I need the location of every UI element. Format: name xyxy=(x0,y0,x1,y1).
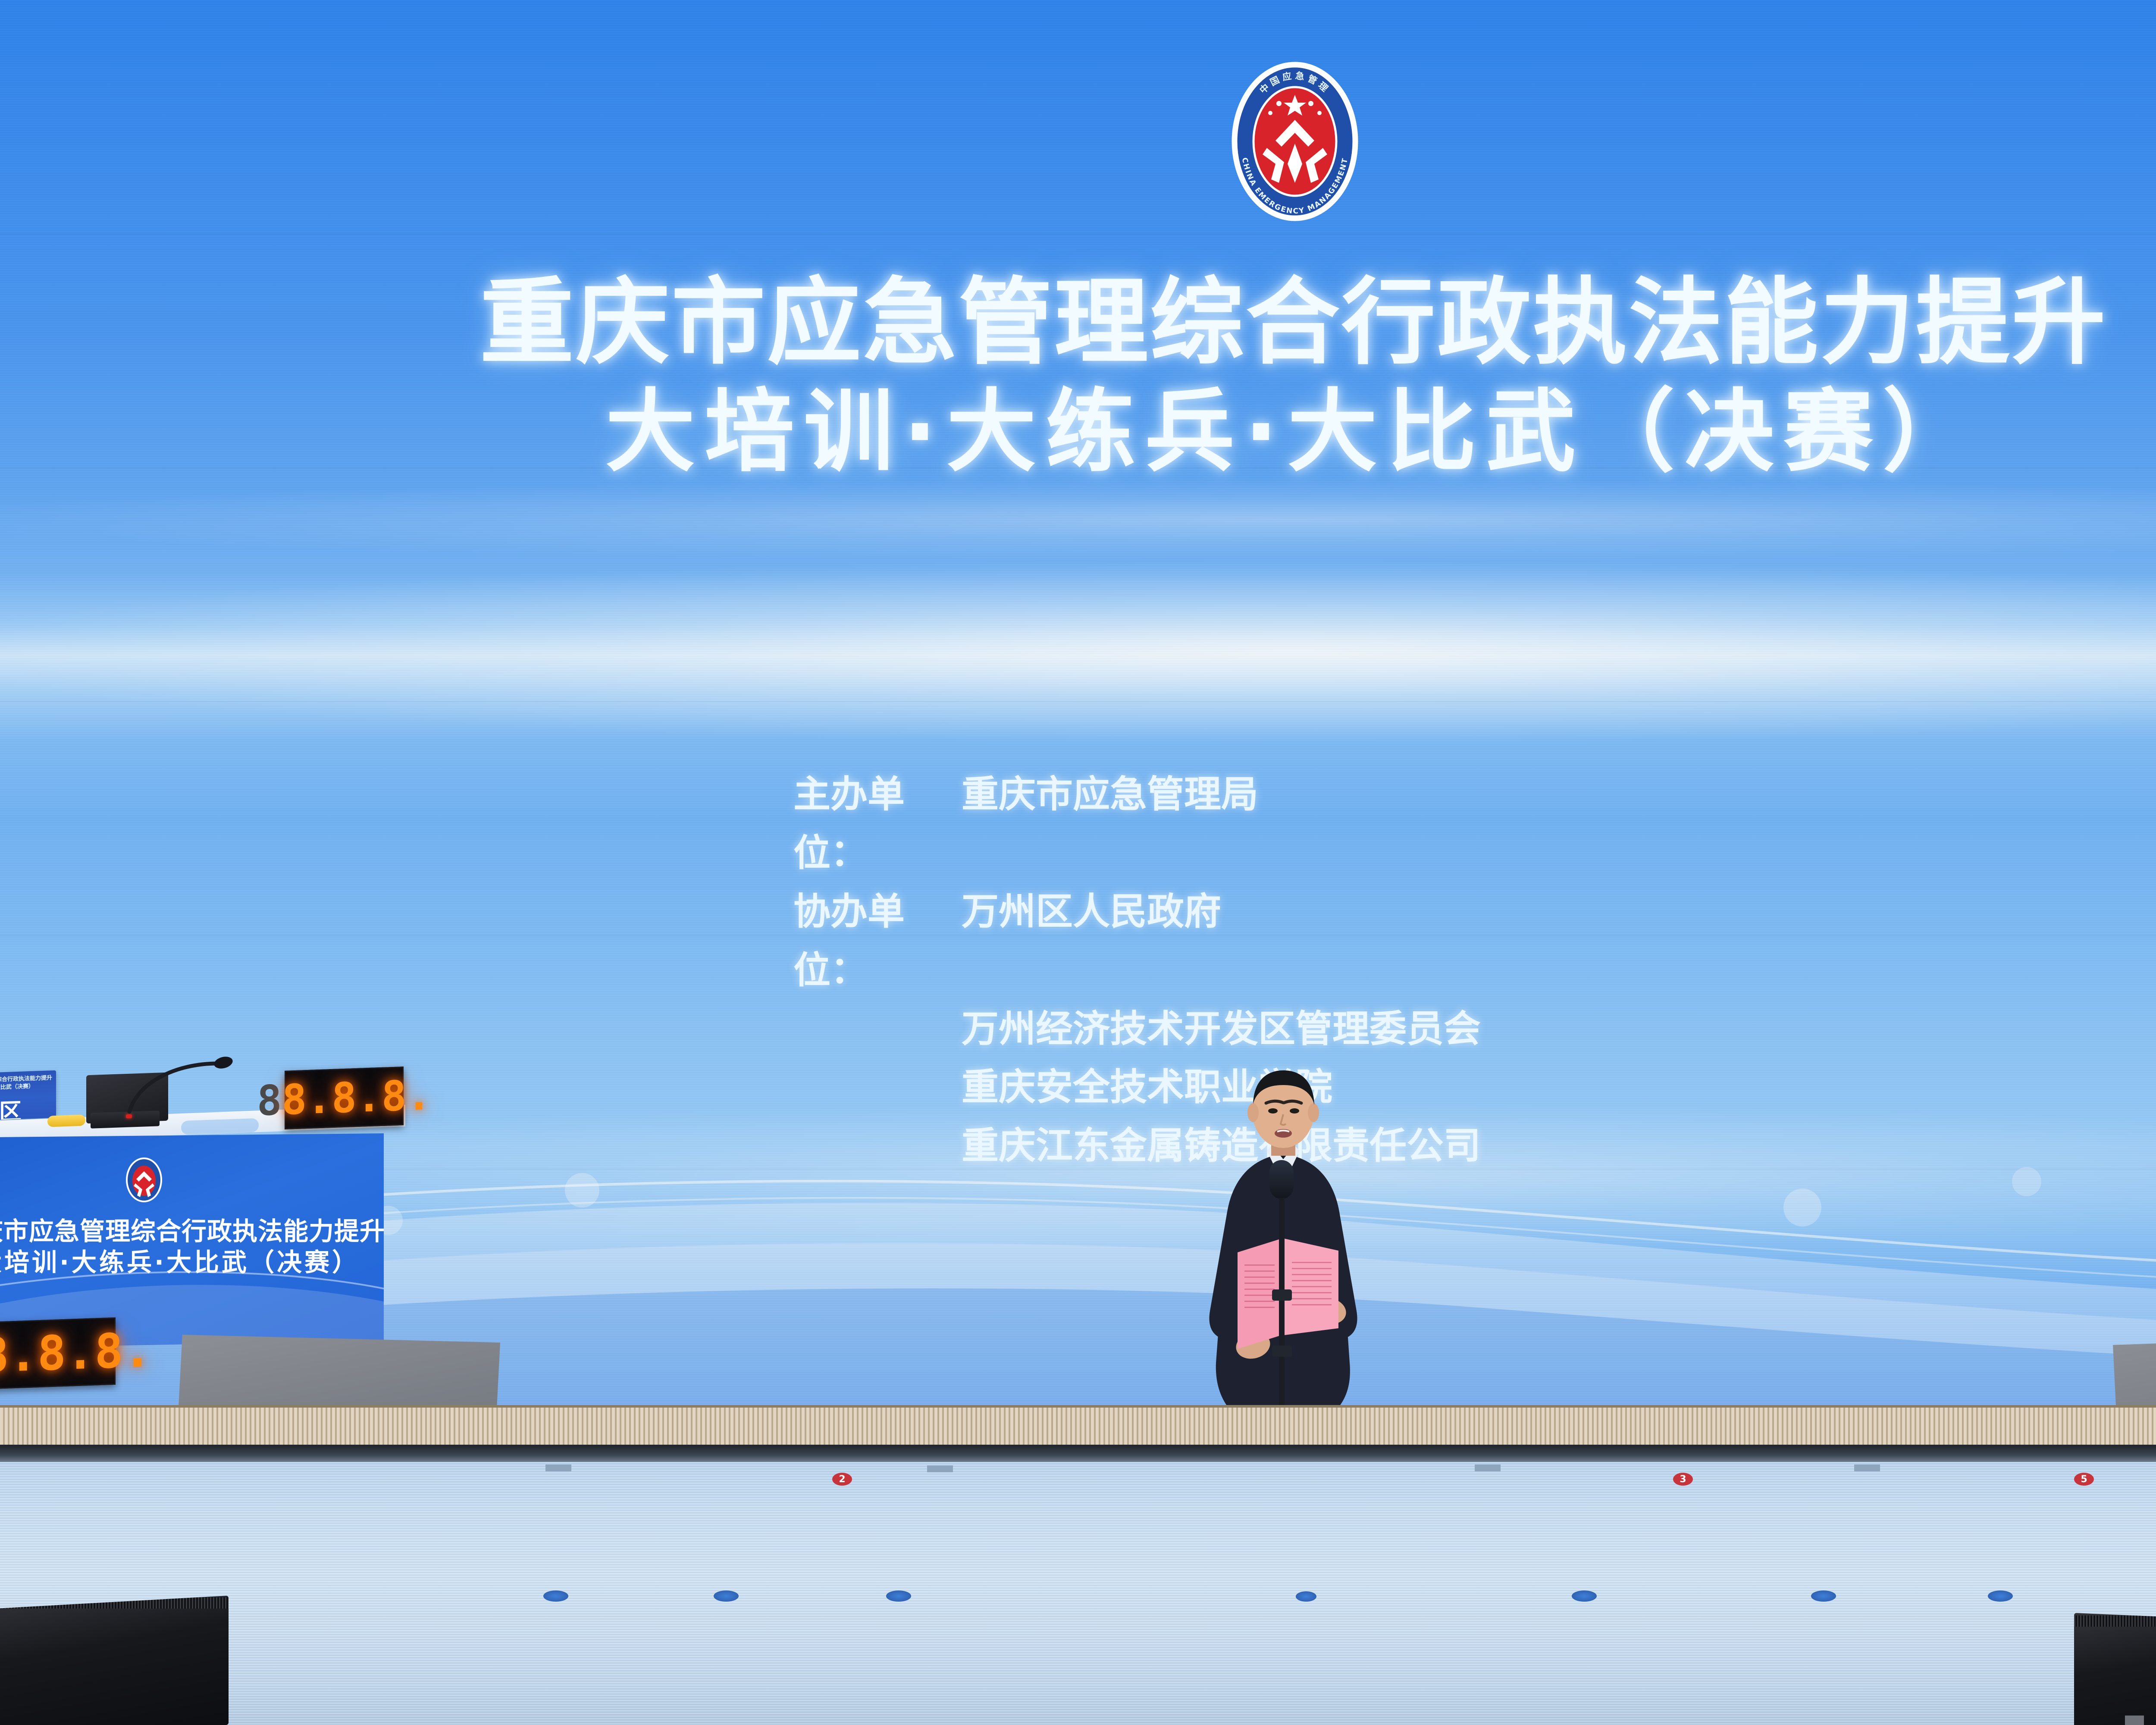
event-title-line2: 大培训·大练兵·大比武（决赛） xyxy=(0,387,2156,477)
stage-monitor-left xyxy=(0,1596,229,1725)
event-stage-photo: 中国应急管理 CHINA EMERGENCY MANAGEMENT 重庆市应急管… xyxy=(0,0,2156,1725)
event-title-line1: 重庆市应急管理综合行政执法能力提升 xyxy=(0,276,2156,370)
floor-light-reflection-2 xyxy=(714,1590,739,1602)
floor-light-reflection-5 xyxy=(1572,1590,1597,1602)
podium-left-gooseneck-mic xyxy=(125,1056,237,1116)
podium-left-emblem-icon xyxy=(124,1156,164,1204)
floor-cable-plate-3 xyxy=(1475,1465,1501,1471)
floor-cable-plate-2 xyxy=(927,1465,953,1472)
podium-left-yellow-object xyxy=(47,1114,85,1127)
floor-light-reflection-3 xyxy=(886,1590,911,1602)
stage-floor: 2 3 5 xyxy=(0,1462,2156,1725)
cohost-row: 协办单位： 万州区人民政府 xyxy=(793,883,1915,1000)
stage-front-wood-slat-band xyxy=(0,1405,2156,1447)
stage-monitor-right-logo-icon xyxy=(2125,1716,2144,1725)
score-display-left-bottom-value: 8.8.8. xyxy=(0,1322,152,1383)
backdrop-light-streak-main xyxy=(0,561,2156,742)
microphone-clamp xyxy=(1272,1289,1292,1301)
floor-light-reflection-6 xyxy=(1811,1590,1836,1602)
event-title-block: 重庆市应急管理综合行政执法能力提升 大培训·大练兵·大比武（决赛） xyxy=(0,276,2156,477)
nameplate-banan-top-line2: 大培训·大练兵·大比武（决赛） xyxy=(0,1083,34,1093)
score-display-left-top: 8 8.8.8. xyxy=(285,1066,404,1129)
cohost-label: 协办单位： xyxy=(793,883,962,1000)
floor-cable-plate-1 xyxy=(545,1465,571,1471)
floor-marker-3: 3 xyxy=(1673,1473,1693,1486)
floor-light-reflection-1 xyxy=(543,1590,568,1602)
podium-left-front-panel: 重庆市应急管理综合行政执法能力提升 大培训·大练兵·大比武（决赛） xyxy=(0,1133,384,1349)
score-display-left-top-value: 8.8.8. xyxy=(282,1071,432,1124)
host-label: 主办单位： xyxy=(793,765,962,883)
floor-light-reflection-4 xyxy=(1296,1591,1316,1602)
host-value: 重庆市应急管理局 xyxy=(962,765,1915,883)
stage-monitor-right xyxy=(2074,1613,2156,1725)
microphone-head-icon xyxy=(1269,1160,1294,1199)
floor-cable-plate-4 xyxy=(1854,1465,1880,1471)
china-emergency-management-emblem-icon: 中国应急管理 CHINA EMERGENCY MANAGEMENT xyxy=(1224,55,1366,223)
score-display-left-bottom: 8 8.8.8. xyxy=(0,1317,116,1389)
microphone-clamp-lower xyxy=(1272,1345,1292,1357)
floor-marker-5: 5 xyxy=(2074,1473,2094,1486)
podium-left-banner-line2: 大培训·大练兵·大比武（决赛） xyxy=(0,1242,384,1278)
floor-light-reflection-7 xyxy=(1988,1590,2013,1602)
backdrop-light-streak-upper xyxy=(0,479,2156,561)
nameplate-banan: 重庆市应急管理综合行政执法能力提升 大培训·大练兵·大比武（决赛） 巴南区 xyxy=(0,1070,56,1121)
host-row: 主办单位： 重庆市应急管理局 xyxy=(793,765,1915,883)
floor-marker-2: 2 xyxy=(832,1473,852,1486)
nameplate-banan-region: 巴南区 xyxy=(0,1093,22,1122)
cohost-value-0: 万州区人民政府 xyxy=(962,883,1915,1000)
stage-front-shadow-strip xyxy=(0,1445,2156,1462)
podium-left-desk-decal xyxy=(181,1118,259,1135)
cohost-value-1: 万州经济技术开发区管理委员会 xyxy=(793,1000,1915,1059)
stage-monitor-right-grille xyxy=(2074,1615,2156,1627)
